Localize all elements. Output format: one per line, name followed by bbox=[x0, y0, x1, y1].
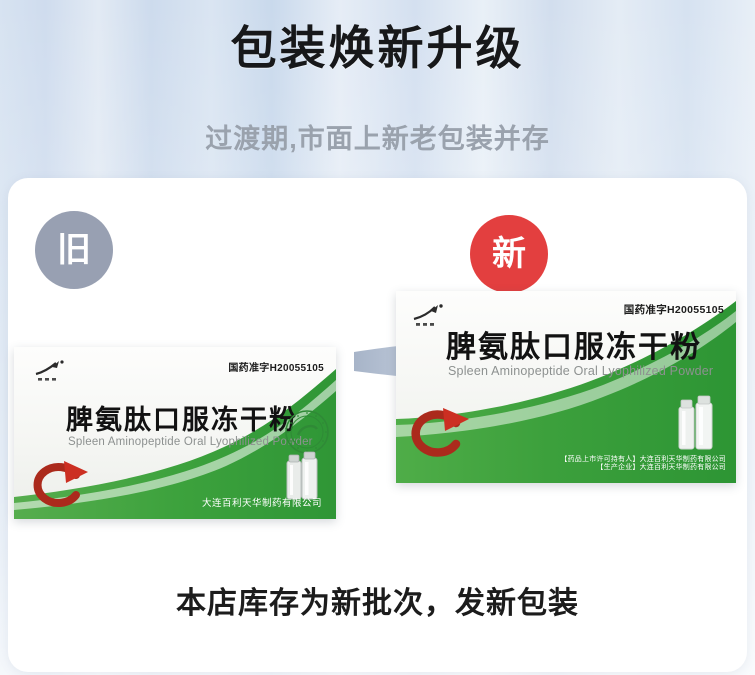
stock-note: 本店库存为新批次，发新包装 bbox=[0, 578, 755, 622]
vial-bottles-icon-new bbox=[676, 395, 718, 458]
promo-banner: 包装焕新升级 过渡期,市面上新老包装并存 旧 新 bbox=[0, 0, 755, 675]
badge-new-label: 新 bbox=[492, 237, 526, 271]
product-name-cn-new: 脾氨肽口服冻干粉 bbox=[446, 322, 702, 366]
product-name-en-old: Spleen Aminopeptide Oral Lyophilized Pow… bbox=[68, 436, 313, 448]
package-new: 国药准字H20055105 脾氨肽口服冻干粉 Spleen Aminopepti… bbox=[396, 291, 736, 483]
manufacturer-old: 大连百利天华制药有限公司 bbox=[202, 498, 322, 510]
page-subtitle: 过渡期,市面上新老包装并存 bbox=[0, 117, 755, 156]
refresh-arrow-icon-old bbox=[30, 459, 92, 514]
page-title: 包装焕新升级 bbox=[0, 22, 755, 75]
refresh-arrow-icon-new bbox=[408, 406, 474, 463]
product-name-cn-old: 脾氨肽口服冻干粉 bbox=[66, 398, 298, 437]
approval-number-new: 国药准字H20055105 bbox=[624, 302, 724, 317]
badge-old: 旧 bbox=[35, 211, 113, 289]
mah-line: 【药品上市许可持有人】大连百利天华制药有限公司 bbox=[560, 456, 726, 465]
badge-old-label: 旧 bbox=[57, 233, 91, 267]
approval-number-old: 国药准字H20055105 bbox=[228, 359, 324, 374]
product-name-en-new: Spleen Aminopeptide Oral Lyophilized Pow… bbox=[448, 364, 713, 378]
badge-new: 新 bbox=[470, 215, 548, 293]
package-old: 国药准字H20055105 脾氨肽口服冻干粉 Spleen Aminopepti… bbox=[14, 347, 336, 519]
manufacturer-block-new: 【药品上市许可持有人】大连百利天华制药有限公司 【生产企业】大连百利天华制药有限… bbox=[560, 456, 726, 474]
producer-line: 【生产企业】大连百利天华制药有限公司 bbox=[560, 464, 726, 473]
brand-logo-icon bbox=[32, 359, 72, 383]
